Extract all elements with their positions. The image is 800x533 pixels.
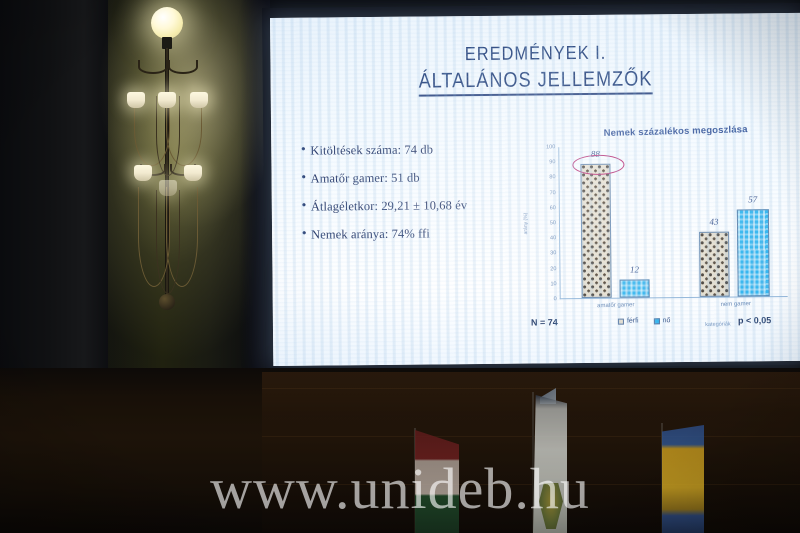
list-item: • Kitöltések száma: 74 db — [301, 141, 536, 158]
bullet-dot-icon: • — [301, 143, 310, 155]
slide-title-line-2: ÁLTALÁNOS JELLEMZŐK — [419, 67, 653, 96]
y-tick-label: 100 — [546, 144, 555, 150]
bullet-list: • Kitöltések száma: 74 db • Amatőr gamer… — [301, 141, 537, 255]
legend-label: nő — [663, 317, 671, 324]
y-tick-label: 70 — [550, 190, 556, 196]
category-label: nem gamer — [721, 301, 752, 308]
projection-screen: EREDMÉNYEK I. ÁLTALÁNOS JELLEMZŐK • Kitö… — [270, 13, 800, 366]
legend-item-ferfi: férfi — [618, 317, 639, 324]
category-label: amatőr gamer — [597, 302, 635, 309]
p-value-label: p < 0,05 — [738, 315, 771, 325]
chart-legend: férfi nő — [618, 317, 671, 325]
legend-swatch-female-icon — [654, 318, 660, 324]
presentation-slide: EREDMÉNYEK I. ÁLTALÁNOS JELLEMZŐK • Kitö… — [270, 13, 800, 366]
y-tick-label: 0 — [554, 296, 557, 302]
panel-seam — [262, 436, 800, 437]
y-tick-label: 40 — [550, 235, 556, 241]
bar-chart: Nemek százalékos megoszlása 100 90 80 70… — [514, 125, 792, 343]
chart-title: Nemek százalékos megoszlása — [568, 123, 783, 140]
wall-sconce — [112, 2, 252, 332]
highlight-ellipse-annotation — [572, 155, 624, 175]
legend-item-no: nő — [654, 317, 671, 324]
list-item: • Amatőr gamer: 51 db — [301, 169, 536, 186]
bullet-text: Amatőr gamer: 51 db — [310, 171, 419, 187]
lamp-shade-1 — [127, 92, 145, 108]
bullet-text: Nemek aránya: 74% ffi — [311, 226, 430, 242]
y-tick-label: 60 — [550, 205, 556, 211]
bullet-dot-icon: • — [302, 199, 311, 211]
bar-no-amator — [620, 279, 650, 297]
panel-seam — [262, 388, 800, 389]
y-tick-label: 80 — [549, 175, 555, 181]
panel-seam — [262, 484, 800, 485]
legend-swatch-male-icon — [618, 318, 624, 324]
slide-title-line-1: EREDMÉNYEK I. — [465, 43, 607, 66]
y-tick-label: 10 — [550, 281, 556, 287]
legend-label: férfi — [627, 317, 639, 324]
sample-size-label: N = 74 — [531, 317, 558, 327]
bullet-text: Kitöltések száma: 74 db — [310, 142, 433, 158]
scroll-arm-top-left — [138, 60, 168, 74]
chart-plot-area: 100 90 80 70 60 50 40 30 20 10 0 arány (… — [558, 145, 787, 299]
bar-value-label: 12 — [630, 264, 639, 274]
bullet-dot-icon: • — [302, 227, 311, 239]
y-axis-title: arány (%) — [523, 213, 529, 235]
sconce-fan-lower-center — [156, 190, 180, 294]
lamp-shade-6 — [159, 180, 177, 196]
wood-panelling — [262, 372, 800, 532]
sconce-finial — [159, 294, 175, 310]
hungarian-flag — [415, 430, 459, 533]
bar-value-label: 57 — [748, 194, 757, 204]
y-tick-label: 90 — [549, 159, 555, 165]
flag-crest-emblem-icon — [539, 483, 563, 529]
y-tick-label: 50 — [550, 220, 556, 226]
bar-value-label: 43 — [709, 217, 718, 227]
bullet-dot-icon: • — [301, 171, 310, 183]
globe-lamp-icon — [151, 7, 183, 39]
blue-yellow-flag — [662, 425, 704, 533]
scroll-arm-top-right — [168, 60, 198, 74]
bar-no-nemgamer — [737, 209, 770, 296]
conference-room-photo: EREDMÉNYEK I. ÁLTALÁNOS JELLEMZŐK • Kitö… — [0, 0, 800, 533]
slide-title: EREDMÉNYEK I. ÁLTALÁNOS JELLEMZŐK — [270, 41, 800, 98]
bar-ferfi-nemgamer — [699, 232, 730, 297]
lamp-shade-4 — [134, 165, 152, 181]
list-item: • Átlagéletkor: 29,21 ± 10,68 év — [302, 197, 537, 214]
y-axis — [558, 147, 560, 299]
y-tick-label: 20 — [550, 266, 556, 272]
list-item: • Nemek aránya: 74% ffi — [302, 225, 537, 242]
lamp-shade-5 — [184, 165, 202, 181]
white-crest-flag — [533, 395, 567, 533]
y-tick-label: 30 — [550, 251, 556, 257]
lamp-shade-2 — [158, 92, 176, 108]
bar-ferfi-amator — [580, 164, 611, 298]
bullet-text: Átlagéletkor: 29,21 ± 10,68 év — [311, 198, 467, 215]
lamp-shade-3 — [190, 92, 208, 108]
